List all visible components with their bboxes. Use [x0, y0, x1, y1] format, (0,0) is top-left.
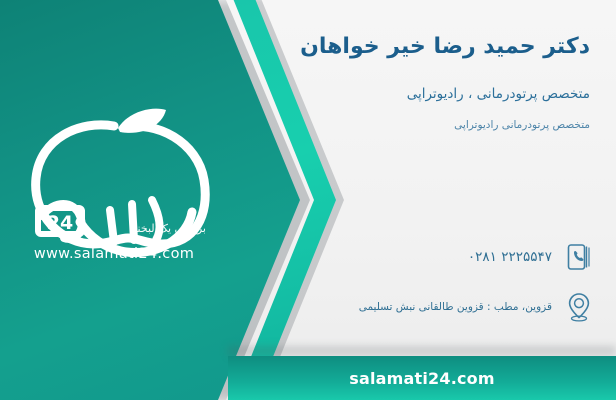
business-card: 24 براحتی یک لبخند www.salamati24.com دک…: [0, 0, 616, 400]
footer-bar: salamati24.com: [228, 356, 616, 400]
doctor-info-block: دکتر حمید رضا خیر خواهان متخصص پرتودرمان…: [250, 32, 590, 134]
doctor-name: دکتر حمید رضا خیر خواهان: [250, 32, 590, 62]
contact-row-address[interactable]: قزوین، مطب : قزوین طالقانی نبش تسلیمی: [244, 290, 594, 324]
svg-text:24: 24: [47, 212, 73, 234]
clinic-address: قزوین، مطب : قزوین طالقانی نبش تسلیمی: [244, 300, 552, 315]
brand-website-logo: www.salamati24.com: [14, 246, 214, 262]
footer-bar-shadow: [228, 346, 616, 356]
contact-row-phone[interactable]: ۲۲۲۵۵۴۷ ۰۲۸۱: [244, 240, 594, 274]
phone-number: ۲۲۲۵۵۴۷ ۰۲۸۱: [244, 248, 552, 267]
contact-list: ۲۲۲۵۵۴۷ ۰۲۸۱ قزوین، مطب : قزوین طالقانی …: [244, 240, 594, 340]
footer-website[interactable]: salamati24.com: [349, 369, 495, 388]
phone-book-icon: [564, 240, 594, 274]
brand-tagline: براحتی یک لبخند: [132, 222, 206, 235]
doctor-specialty-subtitle: متخصص پرتودرمانی رادیوتراپی: [250, 118, 590, 134]
doctor-specialty: متخصص پرتودرمانی ، رادیوتراپی: [250, 84, 590, 104]
brand-logo: 24 براحتی یک لبخند www.salamati24.com: [14, 104, 214, 274]
map-pin-icon: [564, 290, 594, 324]
